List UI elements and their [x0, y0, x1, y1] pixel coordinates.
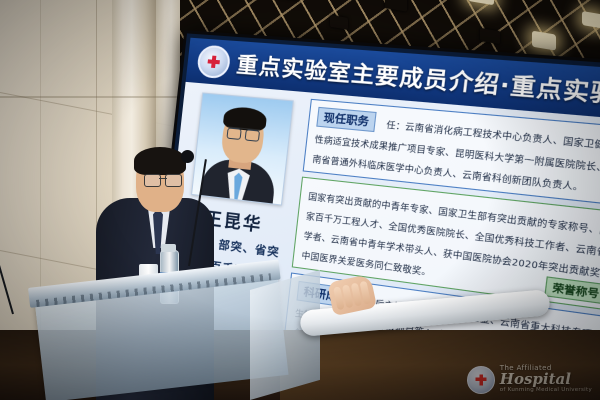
hospital-crest-icon — [467, 366, 495, 394]
status-badge-honors: 荣誉称号 — [544, 276, 600, 304]
watermark-line-2: Hospital — [500, 372, 592, 388]
block-text: 国家有突出贡献的中青年专家、国家卫生部有突出贡献的专家称号、国家百千万工程人才、… — [301, 191, 600, 280]
conference-photo: 重点实验室主要成员介绍·重点实验室主任 王昆华 — [0, 0, 600, 400]
glasses-icon — [227, 126, 261, 139]
bottle-cap — [161, 244, 176, 252]
block-tag: 现任职务 — [316, 107, 376, 132]
glasses-icon — [144, 174, 182, 185]
watermark-line-3: of Kunming Medical University — [500, 388, 592, 394]
watermark: The Affiliated Hospital of Kunming Medic… — [467, 365, 592, 394]
hospital-crest-icon — [196, 44, 231, 79]
microphone-icon — [181, 150, 194, 163]
